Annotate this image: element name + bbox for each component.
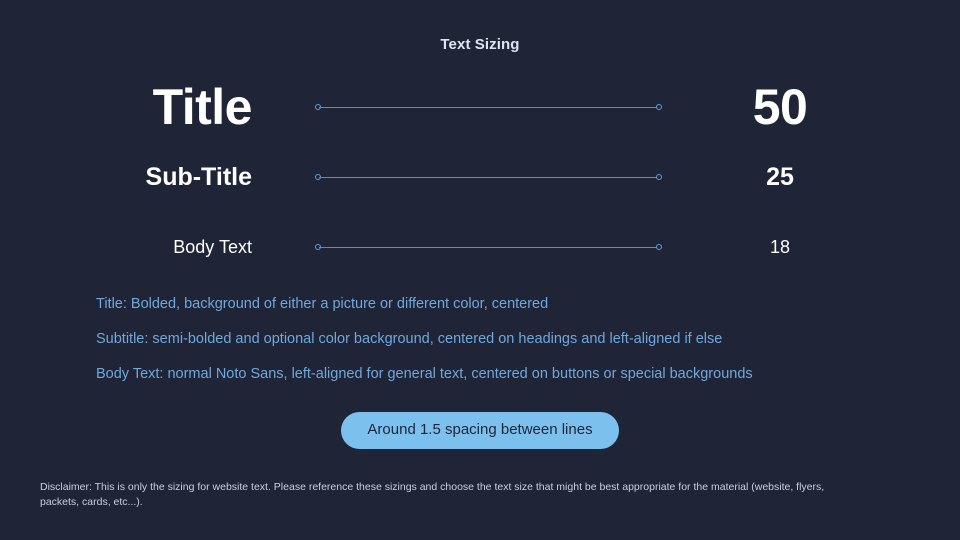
connector-endpoint-right-icon <box>656 174 662 180</box>
note-line-bodytext: Body Text: normal Noto Sans, left-aligne… <box>96 367 926 382</box>
connector-line-title <box>315 102 662 112</box>
sizing-row-bodytext: Body Text 18 <box>0 212 960 282</box>
note-line-title: Title: Bolded, background of either a pi… <box>96 297 926 312</box>
spacing-callout-wrapper: Around 1.5 spacing between lines <box>0 412 960 449</box>
connector-rule <box>319 107 658 108</box>
sizing-row-title: Title 50 <box>0 72 960 142</box>
connector-rule <box>319 177 658 178</box>
connector-endpoint-right-icon <box>656 244 662 250</box>
sizing-row-value-subtitle: 25 <box>700 165 860 190</box>
spacing-callout-pill: Around 1.5 spacing between lines <box>341 412 618 449</box>
sizing-row-label-subtitle: Sub-Title <box>0 165 252 190</box>
sizing-row-label-title: Title <box>0 82 252 132</box>
connector-line-subtitle <box>315 172 662 182</box>
slide-canvas: Text Sizing Title 50 Sub-Title 25 Body T… <box>0 0 960 540</box>
notes-list: Title: Bolded, background of either a pi… <box>96 297 926 402</box>
page-title: Text Sizing <box>0 36 960 53</box>
connector-line-bodytext <box>315 242 662 252</box>
sizing-row-subtitle: Sub-Title 25 <box>0 142 960 212</box>
sizing-row-value-bodytext: 18 <box>700 238 860 256</box>
connector-endpoint-right-icon <box>656 104 662 110</box>
sizing-row-label-bodytext: Body Text <box>0 238 252 256</box>
sizing-rows: Title 50 Sub-Title 25 Body Text <box>0 72 960 282</box>
note-line-subtitle: Subtitle: semi-bolded and optional color… <box>96 332 926 347</box>
connector-rule <box>319 247 658 248</box>
sizing-row-value-title: 50 <box>700 82 860 132</box>
disclaimer-text: Disclaimer: This is only the sizing for … <box>40 480 860 510</box>
